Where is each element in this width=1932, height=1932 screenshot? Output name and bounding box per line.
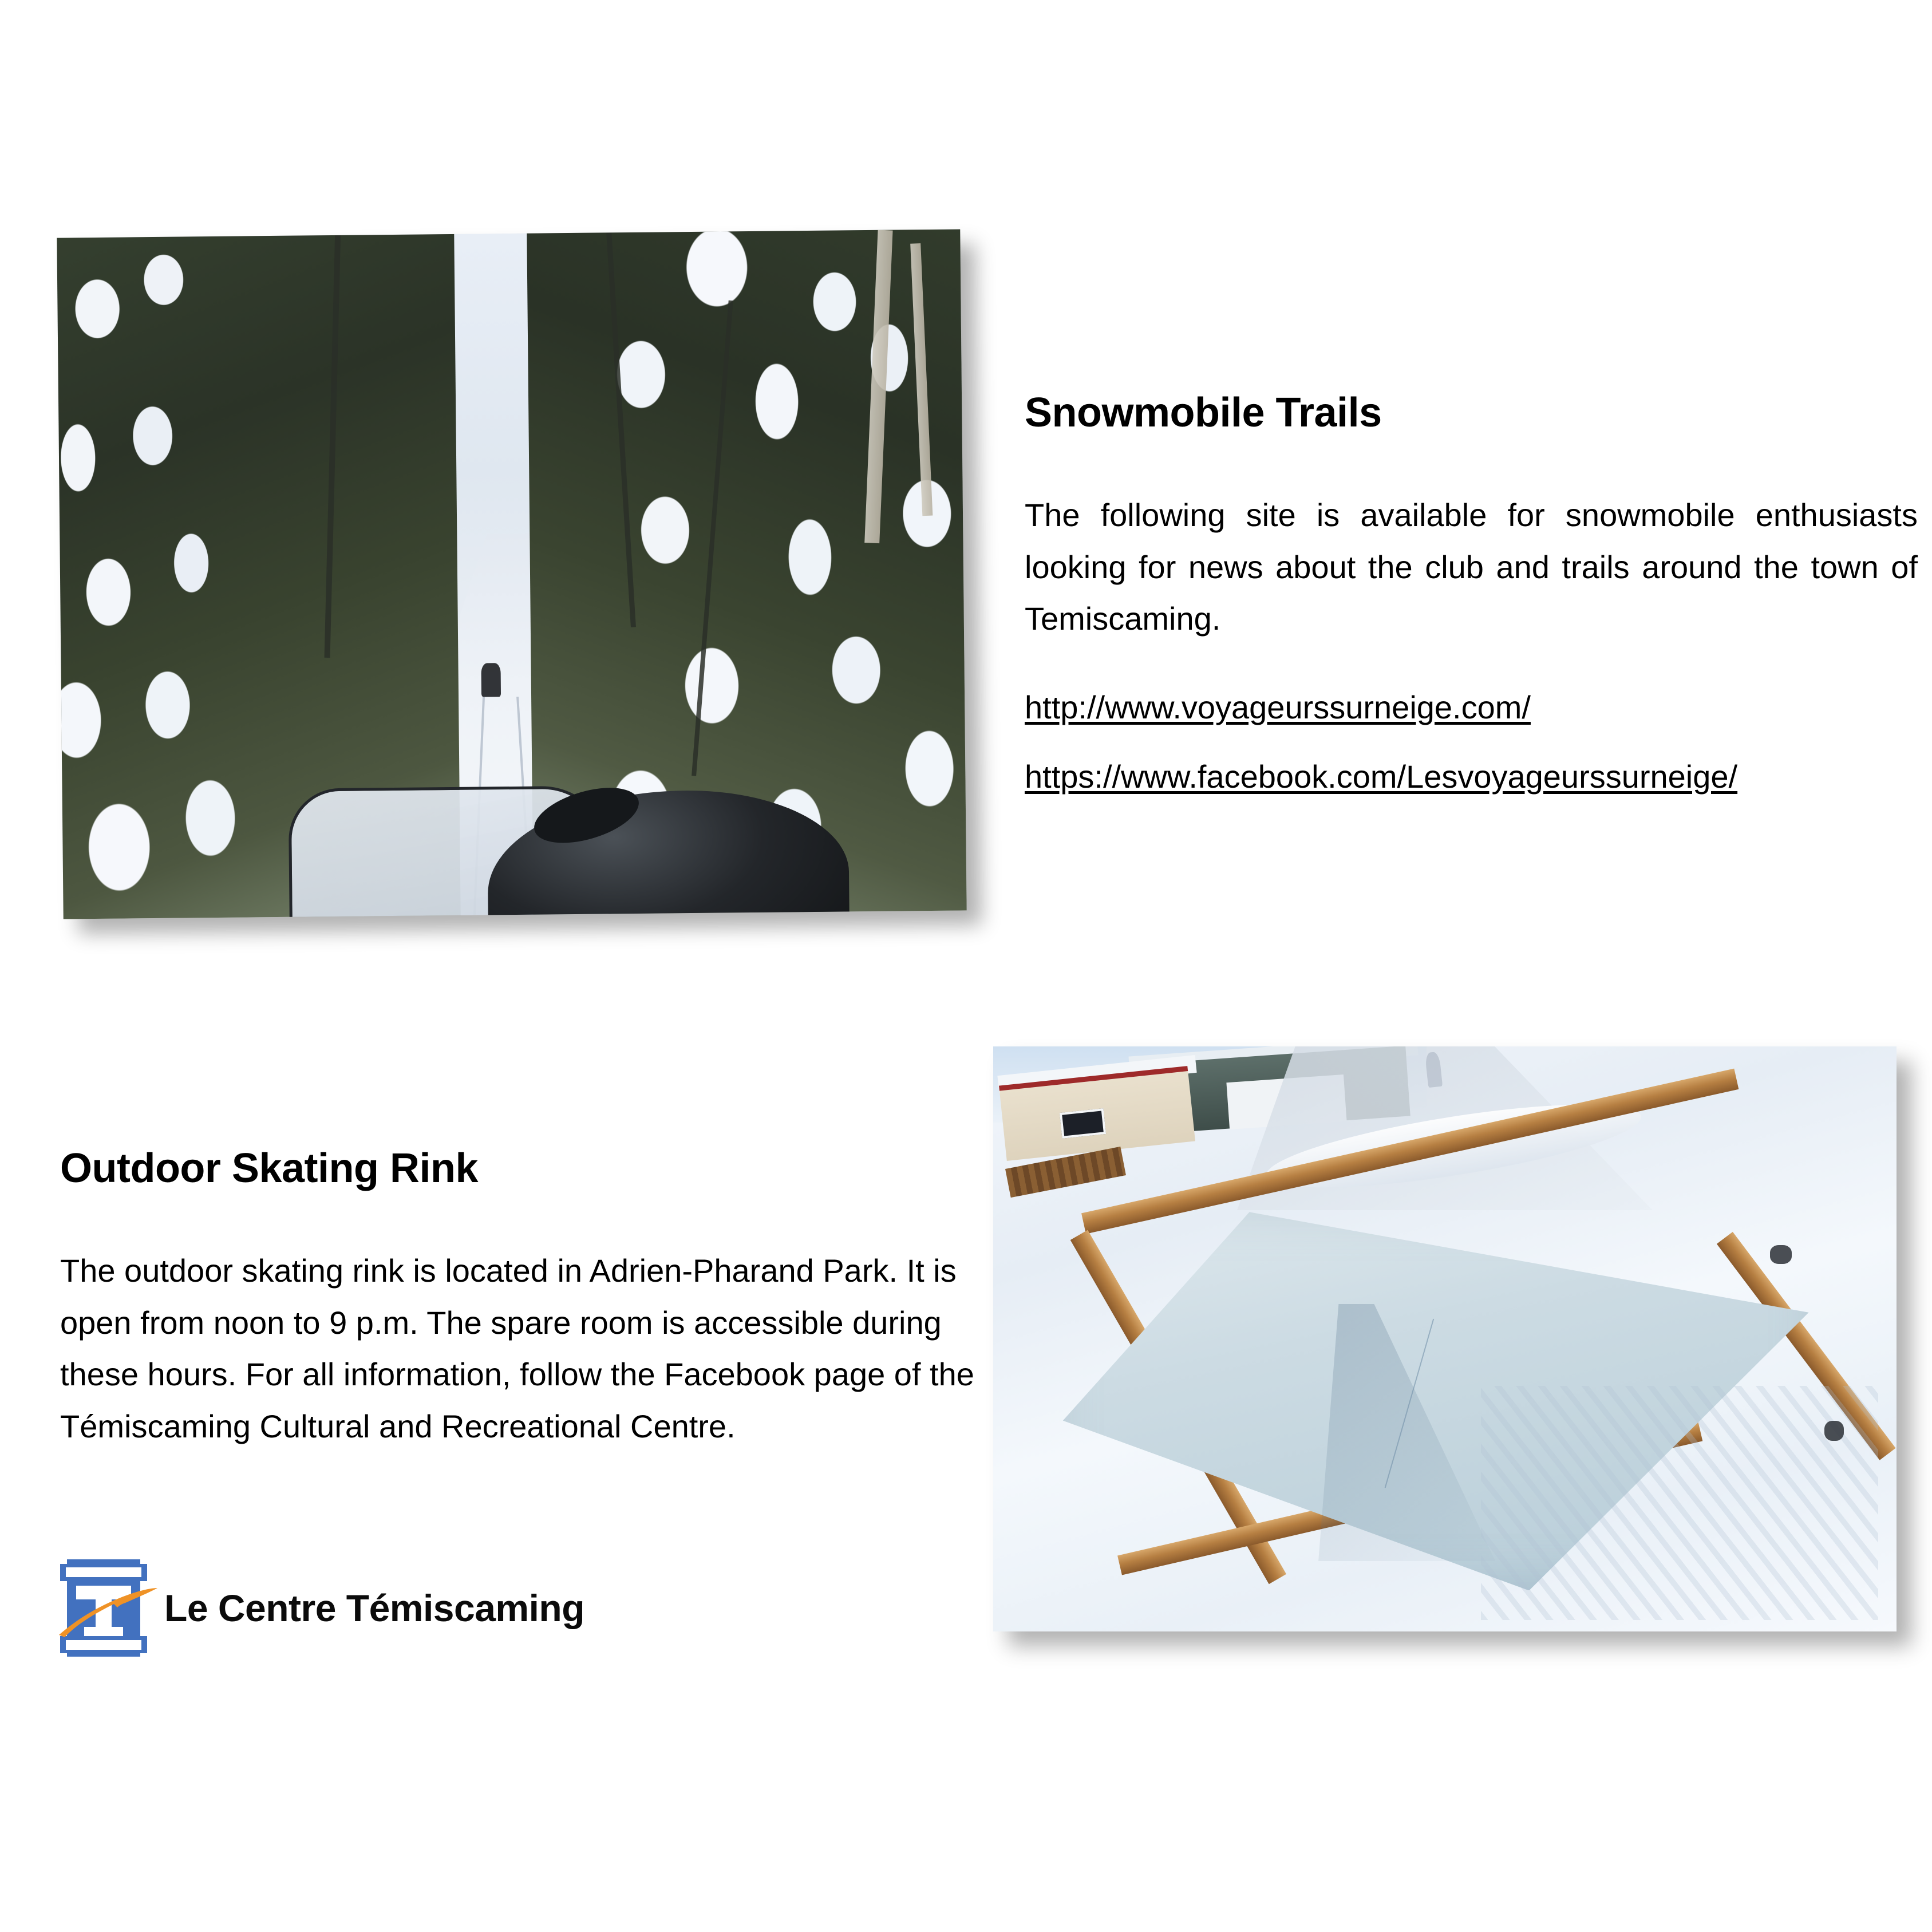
temiscaming-column-t-icon bbox=[60, 1559, 147, 1657]
snowmobile-paragraph: The following site is available for snow… bbox=[1025, 489, 1918, 645]
spacer bbox=[1025, 437, 1918, 489]
rink-paragraph: The outdoor skating rink is located in A… bbox=[60, 1245, 987, 1453]
spacer bbox=[1025, 734, 1918, 751]
snowmobile-trail-photo bbox=[57, 229, 966, 919]
rink-scene bbox=[993, 1046, 1897, 1631]
orange-swoosh-icon bbox=[58, 1585, 159, 1639]
snowmobile-text-column: Snowmobile Trails The following site is … bbox=[1025, 389, 1918, 803]
equipment-object bbox=[1824, 1421, 1844, 1441]
rink-heading: Outdoor Skating Rink bbox=[60, 1145, 987, 1192]
snowmobile-heading: Snowmobile Trails bbox=[1025, 389, 1918, 437]
column-capital-top-inlay bbox=[66, 1567, 141, 1577]
column-base-bottom-inlay bbox=[66, 1640, 141, 1650]
distant-snowmobile-rider bbox=[481, 663, 501, 697]
voyageurssurneige-website-link[interactable]: http://www.voyageurssurneige.com/ bbox=[1025, 682, 1918, 734]
spacer bbox=[1025, 645, 1918, 682]
logo-wordmark: Le Centre Témiscaming bbox=[164, 1586, 584, 1630]
outdoor-skating-rink-photo bbox=[993, 1046, 1897, 1631]
snowmobile-scene bbox=[57, 229, 966, 919]
voyageurssurneige-facebook-link[interactable]: https://www.facebook.com/Lesvoyageurssur… bbox=[1025, 751, 1918, 803]
le-centre-temiscaming-logo: Le Centre Témiscaming bbox=[60, 1559, 584, 1657]
trailer-window bbox=[1060, 1108, 1107, 1139]
rink-text-column: Outdoor Skating Rink The outdoor skating… bbox=[60, 1145, 987, 1453]
equipment-object bbox=[1770, 1245, 1792, 1264]
spacer bbox=[60, 1192, 987, 1245]
snow-tracks bbox=[1481, 1386, 1878, 1620]
